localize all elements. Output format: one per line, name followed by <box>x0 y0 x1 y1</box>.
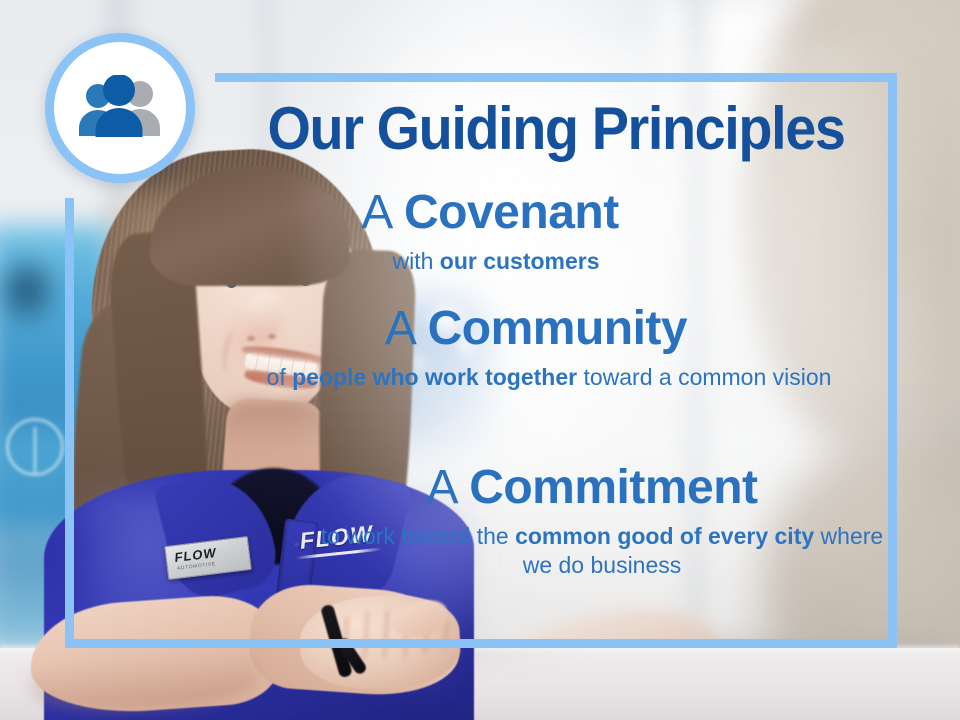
principle-keyword: Commitment <box>469 461 757 514</box>
principle-subtitle: to work toward the common good of every … <box>65 522 897 580</box>
page-title: Our Guiding Principles <box>239 97 873 161</box>
principle-covenant: A Covenant with our customers <box>65 186 897 276</box>
principle-keyword: Community <box>428 302 688 355</box>
principle-subtitle: with our customers <box>65 247 897 276</box>
principle-heading: A Community <box>65 302 897 356</box>
text-content: Our Guiding Principles A Covenant with o… <box>65 73 897 648</box>
banner-canvas: FLOW FLOW AUTOMOTIVE <box>0 0 960 720</box>
principle-article: A <box>426 461 455 514</box>
principle-community: A Community of people who work together … <box>65 302 897 392</box>
principle-heading: A Commitment <box>65 461 897 515</box>
principle-keyword: Covenant <box>404 186 619 239</box>
principle-heading: A Covenant <box>65 186 897 240</box>
principle-subtitle: of people who work together toward a com… <box>65 363 897 392</box>
principle-commitment: A Commitment to work toward the common g… <box>65 461 897 580</box>
principle-article: A <box>361 186 390 239</box>
principle-article: A <box>385 302 414 355</box>
